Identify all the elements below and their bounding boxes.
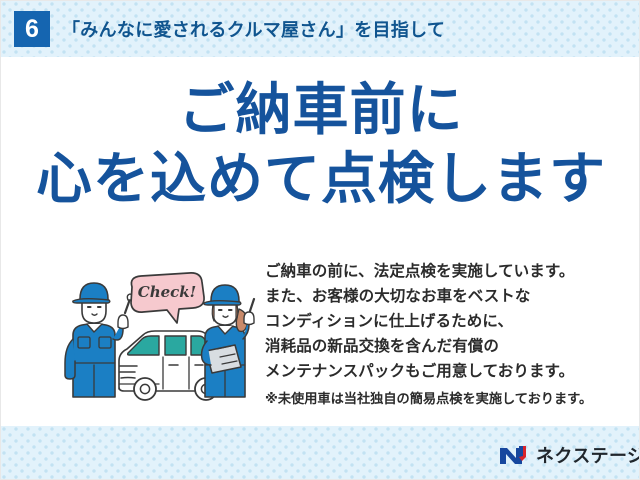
header: 6 「みんなに愛されるクルマ屋さん」を目指して	[1, 1, 640, 57]
headline-line-1: ご納車前に	[1, 79, 640, 142]
body-copy: ご納車の前に、法定点検を実施しています。 また、お客様の大切なお車をベストな コ…	[265, 259, 625, 409]
header-title: 「みんなに愛されるクルマ屋さん」を目指して	[62, 16, 445, 42]
body-note: ※未使用車は当社独自の簡易点検を実施しております。	[265, 388, 625, 409]
brand-logo: ネクステージ	[499, 442, 640, 468]
body-line-1: ご納車の前に、法定点検を実施しています。	[265, 259, 625, 284]
body-line-4: 消耗品の新品交換を含んだ有償の	[265, 334, 625, 359]
body-line-2: また、お客様の大切なお車をベストな	[265, 284, 625, 309]
body-line-3: コンディションに仕上げるために、	[265, 309, 625, 334]
section-number-badge: 6	[14, 11, 50, 47]
brand-name: ネクステージ	[536, 442, 640, 468]
page-title: ご納車前に 心を込めて点検します	[1, 79, 640, 210]
body-line-5: メンテナンスパックもご用意しております。	[265, 359, 625, 384]
n-logo-icon	[499, 444, 529, 466]
speech-bubble-text: Check!	[138, 283, 197, 301]
flyer-page: 6 「みんなに愛されるクルマ屋さん」を目指して ご納車前に 心を込めて点検します…	[0, 0, 640, 480]
mechanics-illustration: Check!	[59, 269, 259, 407]
female-mechanic-icon	[202, 285, 254, 397]
headline-line-2: 心を込めて点検します	[1, 148, 640, 211]
